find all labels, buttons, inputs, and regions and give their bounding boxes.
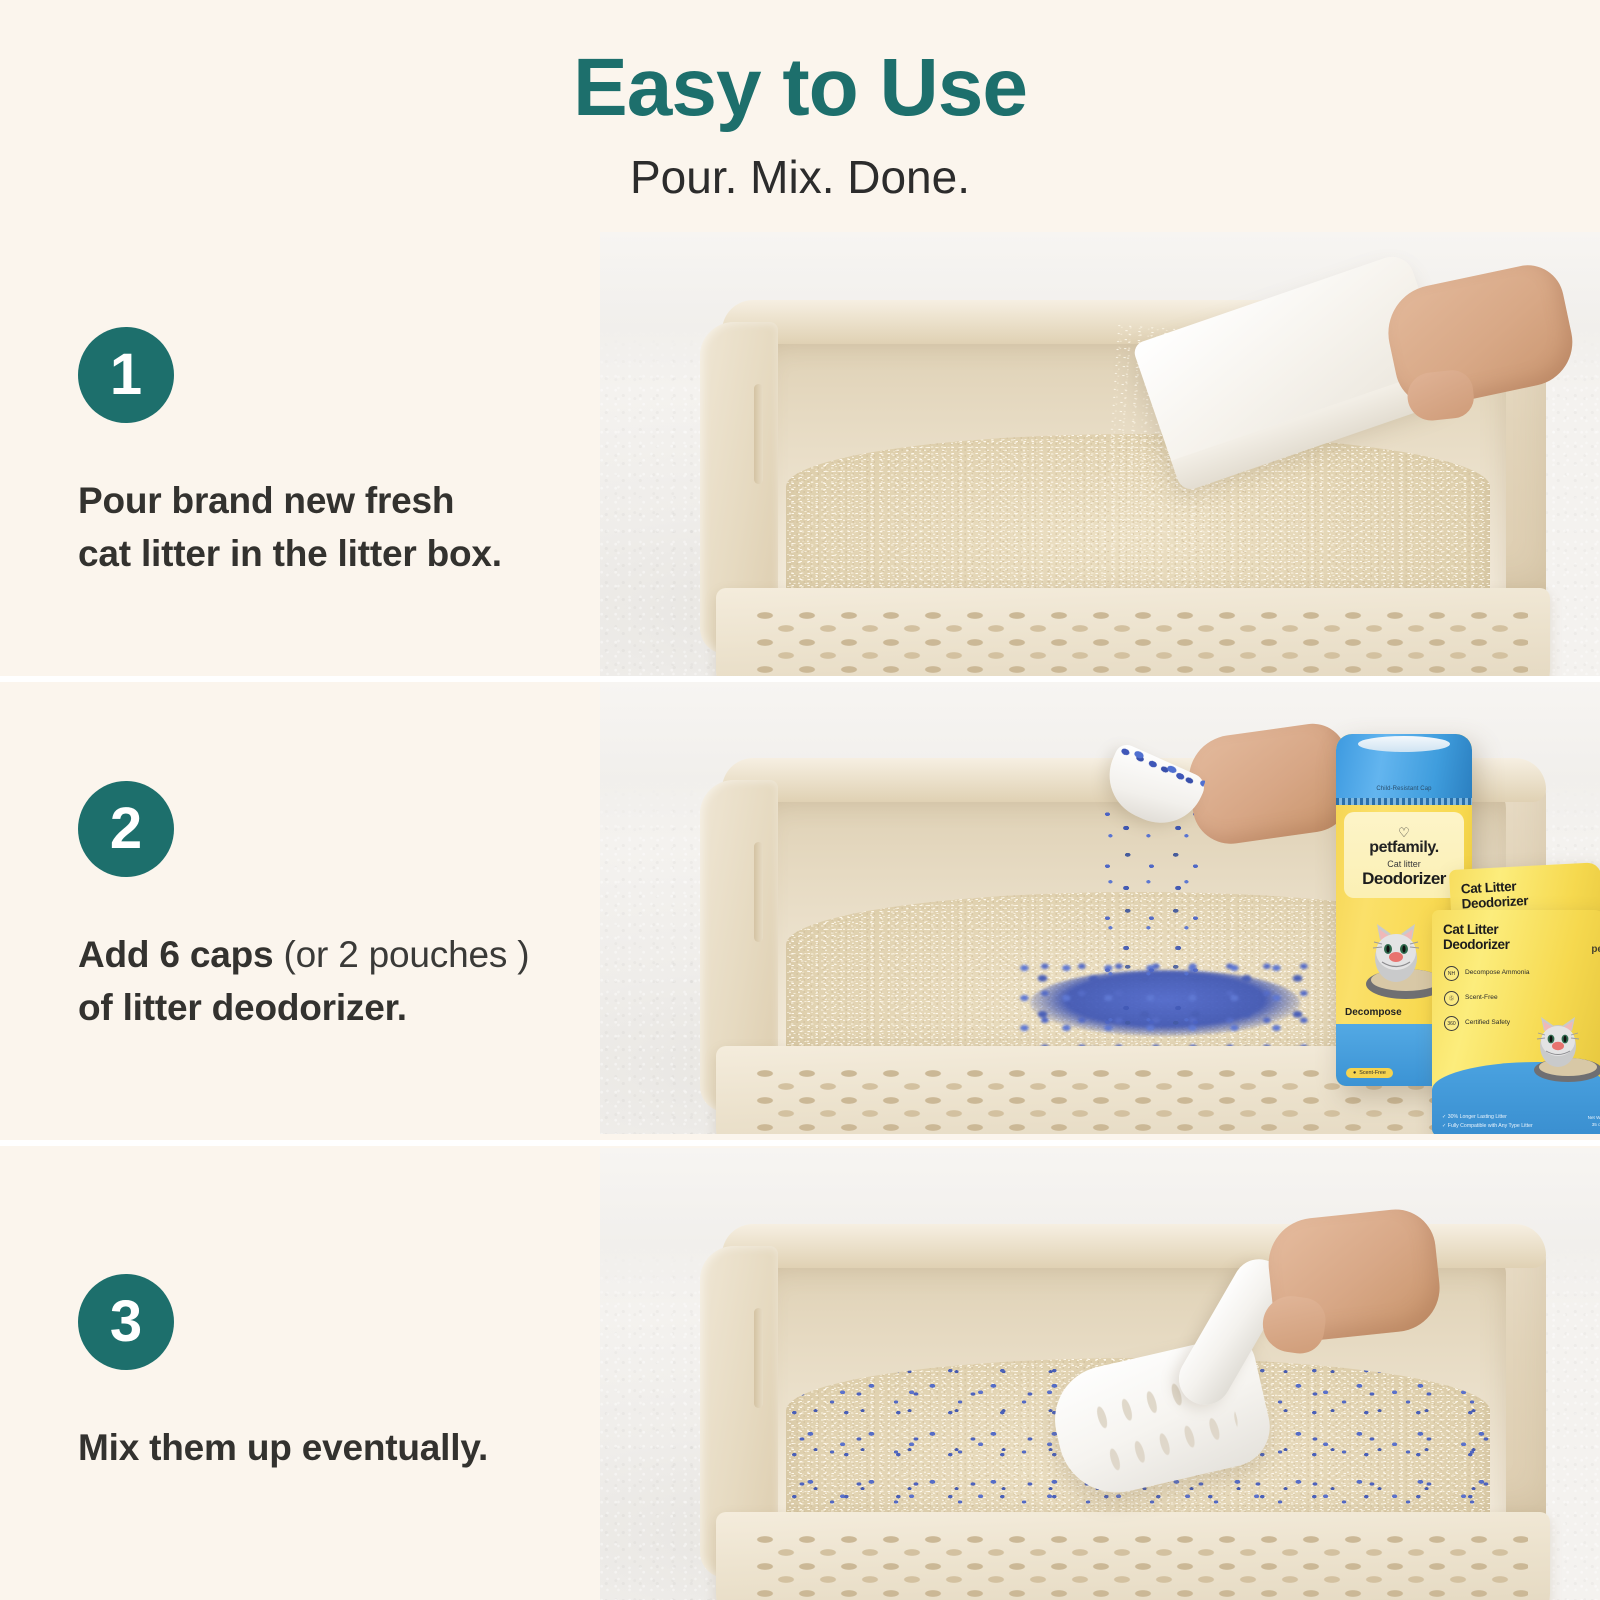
step-2-photo: Child-Resistant Cap ♡ petfamily. Cat lit… [600, 682, 1600, 1134]
page-header: Easy to Use Pour. Mix. Done. [0, 0, 1600, 232]
step-1-caption-line2: cat litter in the litter box. [78, 533, 502, 574]
pouch-feature-label: Scent-Free [1465, 994, 1498, 1003]
litter-box-grate [716, 1512, 1550, 1600]
step-panel-2: Child-Resistant Cap ♡ petfamily. Cat lit… [0, 682, 1600, 1134]
pouch-feature-label: Certified Safety [1465, 1019, 1510, 1028]
pouch-feature-item: NH Decompose Ammonia [1444, 966, 1530, 981]
heart-cat-logo-icon: ♡ [1398, 826, 1410, 839]
bottle-cap: Child-Resistant Cap [1336, 734, 1472, 800]
pouch-cat-illustration [1524, 1008, 1600, 1082]
litter-box-side-notch [754, 384, 763, 484]
litter-box [700, 1228, 1560, 1600]
bottle-decompose-label: Decompose [1345, 1007, 1402, 1018]
bottle-seal-band [1336, 798, 1472, 805]
paw-icon: ● [1353, 1070, 1356, 1076]
bottle-front-label: ♡ petfamily. Cat litter Deodorizer [1344, 812, 1464, 898]
step-1-text-block: 1 Pour brand new fresh cat litter in the… [0, 232, 640, 676]
pouch-feature-list: NH Decompose Ammonia Ⓢ Scent-Free 360 Ce… [1444, 966, 1530, 1031]
step-panel-3: 3 Mix them up eventually. [0, 1148, 1600, 1600]
bottle-scent-free-badge: ● Scent-Free [1346, 1068, 1393, 1078]
pouch-feature-item: Ⓢ Scent-Free [1444, 991, 1530, 1006]
step-3-number-badge: 3 [78, 1274, 174, 1370]
pouch-front-title: Cat Litter Deodorizer [1443, 922, 1510, 953]
step-1-caption-line1: Pour brand new fresh [78, 480, 454, 521]
step-3-photo [600, 1148, 1600, 1600]
bottle-subtitle: Cat litter [1387, 859, 1421, 869]
step-2-caption-light: (or 2 pouches ) [284, 934, 530, 975]
bottle-cap-top [1358, 736, 1450, 752]
step-1-photo [600, 232, 1600, 676]
bottle-product-title: Deodorizer [1362, 869, 1446, 889]
pouch-net-weight: Net Wt. 35 oz [1588, 1115, 1600, 1129]
step-panel-1: 1 Pour brand new fresh cat litter in the… [0, 232, 1600, 676]
step-3-caption: Mix them up eventually. [78, 1422, 640, 1475]
litter-box-side-notch [754, 842, 763, 942]
step-2-caption-bold: Add 6 caps [78, 934, 273, 975]
child-resistant-cap-label: Child-Resistant Cap [1336, 786, 1472, 792]
bottle-brand-name: petfamily. [1369, 839, 1439, 857]
step-1-caption: Pour brand new fresh cat litter in the l… [78, 475, 640, 580]
step-1-number-badge: 1 [78, 327, 174, 423]
pouch-bottom-claims: ✓ 30% Longer Lasting Litter ✓ Fully Comp… [1442, 1113, 1533, 1130]
bottle-badge-text: Scent-Free [1359, 1070, 1386, 1076]
pouch-brand-partial: pe [1591, 944, 1600, 955]
step-2-caption: Add 6 caps (or 2 pouches ) of litter deo… [78, 929, 640, 1034]
litter-box-side-notch [754, 1308, 763, 1408]
safety-360-icon: 360 [1444, 1016, 1459, 1031]
pouch-feature-label: Decompose Ammonia [1465, 969, 1530, 978]
product-packaging-group: Child-Resistant Cap ♡ petfamily. Cat lit… [1322, 720, 1600, 1134]
step-3-text-block: 3 Mix them up eventually. [0, 1148, 640, 1600]
litter-scoop [1056, 1280, 1356, 1490]
deodorizer-pour-stream [1096, 810, 1204, 1060]
pouch-feature-item: 360 Certified Safety [1444, 1016, 1530, 1031]
panel-divider-2 [0, 1140, 1600, 1146]
no-scent-icon: Ⓢ [1444, 991, 1459, 1006]
pouch-front-title-line2: Deodorizer [1443, 937, 1510, 952]
page-subtitle: Pour. Mix. Done. [630, 150, 970, 204]
deodorizer-pouch-front: Cat Litter Deodorizer pe NH Decompose Am… [1432, 910, 1600, 1134]
step-2-number-badge: 2 [78, 781, 174, 877]
litter-box-grate [716, 588, 1550, 676]
step-3-caption-line1: Mix them up eventually. [78, 1427, 488, 1468]
nh3-icon: NH [1444, 966, 1459, 981]
pouch-front-title-line1: Cat Litter [1443, 922, 1498, 937]
hand-holding-scoop [1264, 1206, 1444, 1345]
step-2-text-block: 2 Add 6 caps (or 2 pouches ) of litter d… [0, 682, 640, 1134]
pouch-back-title: Cat Litter Deodorizer [1460, 878, 1528, 912]
page-title: Easy to Use [573, 46, 1027, 130]
litter-box [700, 304, 1560, 676]
step-2-caption-line2: of litter deodorizer. [78, 987, 407, 1028]
